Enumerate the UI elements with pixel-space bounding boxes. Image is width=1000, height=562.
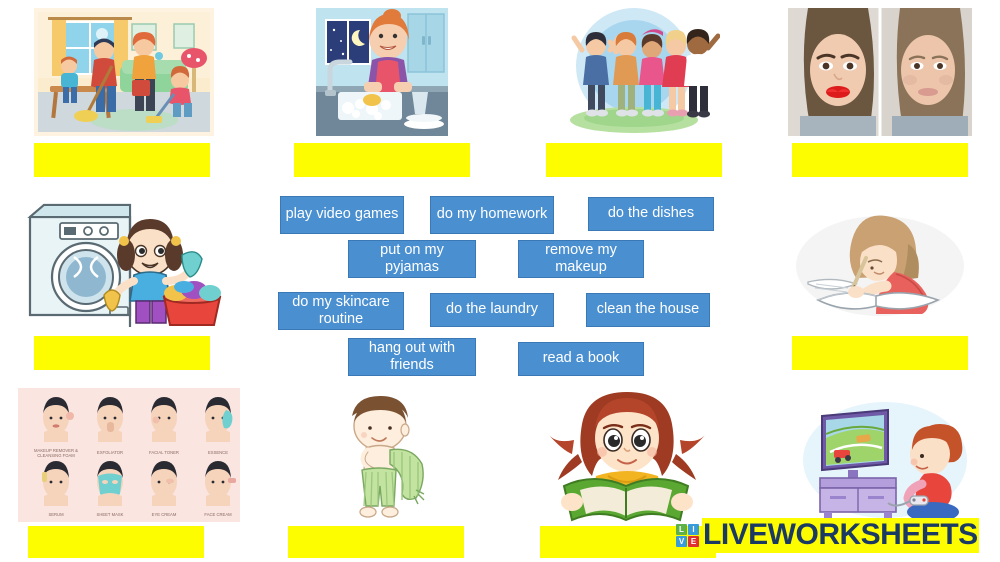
answer-do-my-skincare[interactable] xyxy=(28,526,204,558)
word-tile-read-a-book[interactable]: read a book xyxy=(518,342,644,376)
word-tile-clean-the-house[interactable]: clean the house xyxy=(586,293,710,327)
answer-put-on-pyjamas[interactable] xyxy=(288,526,464,558)
svg-text:SERUM: SERUM xyxy=(48,512,64,517)
answer-do-the-dishes[interactable] xyxy=(294,143,470,177)
svg-text:CLEANSING FOAM: CLEANSING FOAM xyxy=(37,453,75,458)
girl-washing-dishes-image xyxy=(316,8,448,136)
girl-reading-image xyxy=(534,390,720,524)
svg-text:FACE CREAM: FACE CREAM xyxy=(204,512,232,517)
word-tile-put-on-my-pyjamas[interactable]: put on my pyjamas xyxy=(348,240,476,278)
friends-group-image xyxy=(548,8,720,136)
answer-do-my-homework[interactable] xyxy=(792,336,968,370)
answer-do-the-laundry[interactable] xyxy=(34,336,210,370)
makeup-removal-image xyxy=(788,8,972,136)
girl-homework-image xyxy=(790,200,970,330)
svg-text:SHEET MASK: SHEET MASK xyxy=(97,512,124,517)
answer-hang-out-friends[interactable] xyxy=(546,143,722,177)
word-tile-play-video-games[interactable]: play video games xyxy=(280,196,404,234)
worksheet-canvas: MAKEUP REMOVER & CLEANSING FOAM EXFOLIAT… xyxy=(0,0,1000,562)
answer-clean-the-house[interactable] xyxy=(34,143,210,177)
logo-tile-l: L xyxy=(676,524,687,535)
family-cleaning-house-image xyxy=(34,8,214,136)
svg-text:EXFOLIATOR: EXFOLIATOR xyxy=(97,450,123,455)
logo-wordmark: LIVEWORKSHEETS xyxy=(702,518,979,553)
boy-pyjamas-image xyxy=(306,392,466,522)
word-tile-do-my-homework[interactable]: do my homework xyxy=(430,196,554,234)
svg-text:ESSENCE: ESSENCE xyxy=(208,450,228,455)
boy-video-games-image xyxy=(800,398,970,524)
word-tile-do-the-laundry[interactable]: do the laundry xyxy=(430,293,554,327)
svg-text:FACIAL TONER: FACIAL TONER xyxy=(149,450,179,455)
logo-tile-v: V xyxy=(676,536,687,547)
skincare-routine-image: MAKEUP REMOVER & CLEANSING FOAM EXFOLIAT… xyxy=(18,388,240,522)
word-tile-do-the-dishes[interactable]: do the dishes xyxy=(588,197,714,231)
answer-remove-my-makeup[interactable] xyxy=(792,143,968,177)
logo-tile-i: I xyxy=(688,524,699,535)
word-tile-do-my-skincare-routine[interactable]: do my skincare routine xyxy=(278,292,404,330)
logo-tile-grid: L I V E xyxy=(676,524,699,547)
logo-tile-e: E xyxy=(688,536,699,547)
liveworksheets-logo[interactable]: L I V E LIVEWORKSHEETS xyxy=(676,518,979,553)
svg-text:EYE CREAM: EYE CREAM xyxy=(152,512,177,517)
girl-laundry-image xyxy=(14,193,222,329)
word-tile-hang-out-with-friends[interactable]: hang out with friends xyxy=(348,338,476,376)
word-tile-remove-my-makeup[interactable]: remove my makeup xyxy=(518,240,644,278)
